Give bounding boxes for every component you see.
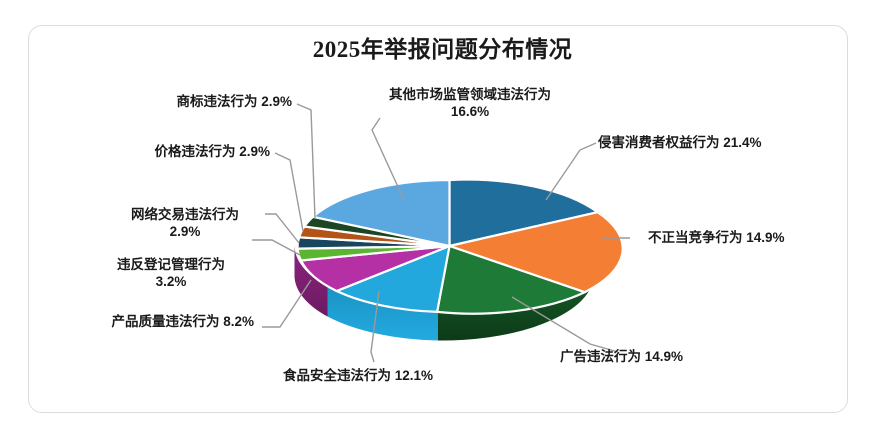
label-advertising: 广告违法行为 14.9%	[560, 348, 760, 365]
leader-online-trade	[265, 214, 299, 243]
leader-registration	[252, 240, 300, 255]
pie-slices	[298, 180, 623, 314]
label-unfair-competition: 不正当竞争行为 14.9%	[648, 229, 858, 246]
label-price: 价格违法行为 2.9%	[60, 143, 270, 160]
leader-trademark	[297, 104, 315, 218]
label-food-safety: 食品安全违法行为 12.1%	[263, 367, 453, 384]
label-consumer-rights: 侵害消费者权益行为 21.4%	[598, 134, 828, 151]
label-online-trade: 网络交易违法行为 2.9%	[110, 206, 260, 241]
label-trademark: 商标违法行为 2.9%	[80, 93, 292, 110]
label-product-quality: 产品质量违法行为 8.2%	[40, 313, 254, 330]
label-registration: 违反登记管理行为 3.2%	[96, 256, 246, 291]
leader-price	[275, 153, 303, 231]
label-other-market: 其他市场监管领域违法行为 16.6%	[345, 86, 595, 121]
